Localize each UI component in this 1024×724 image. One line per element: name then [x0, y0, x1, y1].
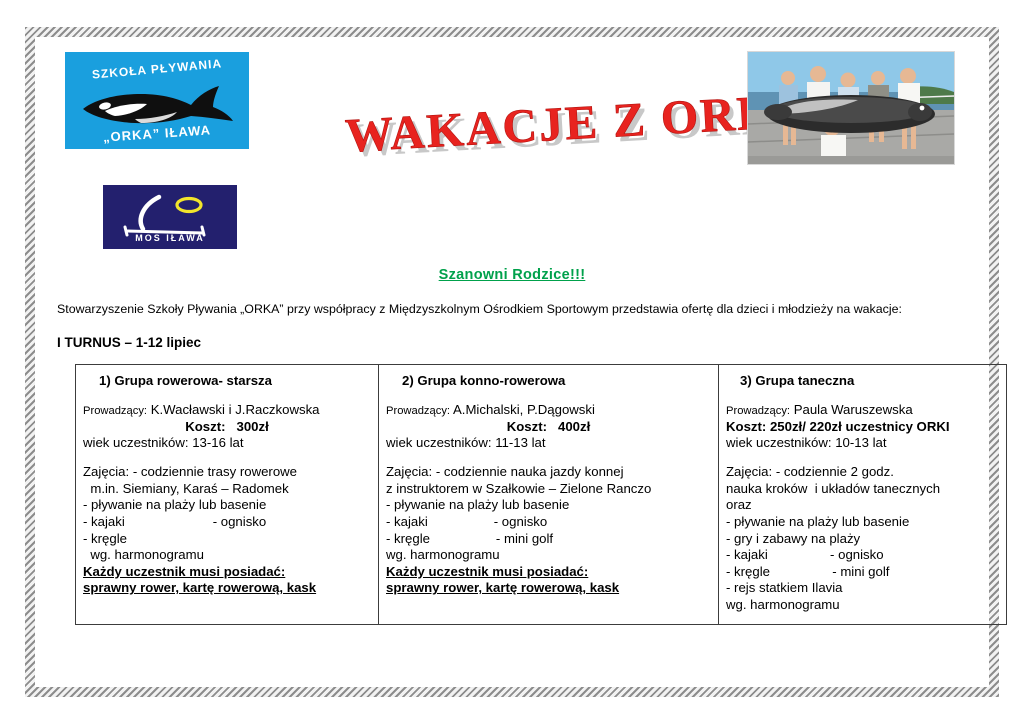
- spacer: [726, 452, 999, 464]
- group-cell-2: 2) Grupa konno-rowerowa Prowadzący: A.Mi…: [379, 365, 719, 625]
- group-leader: Prowadzący: A.Michalski, P.Dągowski: [386, 402, 711, 419]
- activity-line: - kajaki - ognisko: [386, 514, 711, 531]
- requirement-body: sprawny rower, kartę rowerową, kask: [386, 580, 711, 597]
- orka-swim-school-logo: SZKOŁA PŁYWANIA „ORKA” IŁAWA: [65, 52, 249, 149]
- decorative-page-border: SZKOŁA PŁYWANIA „ORKA” IŁAWA: [25, 27, 999, 697]
- leader-names: Paula Waruszewska: [790, 402, 913, 417]
- activity-line: - pływanie na plaży lub basenie: [83, 497, 371, 514]
- activity-line: - gry i zabawy na plaży: [726, 531, 999, 548]
- requirement-title: Każdy uczestnik musi posiadać:: [386, 564, 711, 581]
- activity-line: Zajęcia: - codziennie 2 godz.: [726, 464, 999, 481]
- session-heading: I TURNUS – 1-12 lipiec: [35, 335, 989, 350]
- activity-line: - kręgle - mini golf: [386, 531, 711, 548]
- group-age: wiek uczestników: 10-13 lat: [726, 435, 999, 452]
- group-cost: Koszt: 250zł/ 220zł uczestnicy ORKI: [726, 419, 999, 436]
- activity-line: oraz: [726, 497, 999, 514]
- group-cost: Koszt: 300zł: [83, 419, 371, 436]
- group-cell-3: 3) Grupa taneczna Prowadzący: Paula Waru…: [719, 365, 1007, 625]
- photo-illustration: [748, 52, 954, 164]
- activity-line: - kajaki - ognisko: [726, 547, 999, 564]
- group-heading: 2) Grupa konno-rowerowa: [386, 373, 711, 388]
- spacer: [83, 452, 371, 464]
- group-heading: 1) Grupa rowerowa- starsza: [83, 373, 371, 388]
- activity-line: z instruktorem w Szałkowie – Zielone Ran…: [386, 481, 711, 498]
- activity-line: wg. harmonogramu: [726, 597, 999, 614]
- spacer: [386, 452, 711, 464]
- document-header: SZKOŁA PŁYWANIA „ORKA” IŁAWA: [35, 37, 989, 267]
- intro-paragraph: Stowarzyszenie Szkoły Pływania „ORKA” pr…: [35, 301, 989, 317]
- requirement-body: sprawny rower, kartę rowerową, kask: [83, 580, 371, 597]
- activity-line: - rejs statkiem Ilavia: [726, 580, 999, 597]
- activity-line: - kręgle: [83, 531, 371, 548]
- group-leader: Prowadzący: Paula Waruszewska: [726, 402, 999, 419]
- page-content: SZKOŁA PŁYWANIA „ORKA” IŁAWA: [35, 37, 989, 687]
- activity-line: m.in. Siemiany, Karaś – Radomek: [83, 481, 371, 498]
- group-age: wiek uczestników: 13-16 lat: [83, 435, 371, 452]
- group-leader: Prowadzący: K.Wacławski i J.Raczkowska: [83, 402, 371, 419]
- table-row: 1) Grupa rowerowa- starsza Prowadzący: K…: [76, 365, 1007, 625]
- page-title: WAKACJE Z ORKĄ: [344, 85, 766, 163]
- group-photo: [747, 51, 955, 165]
- mos-ilawa-logo: MOS IŁAWA: [103, 185, 237, 249]
- activity-line: - kręgle - mini golf: [726, 564, 999, 581]
- requirement-title: Każdy uczestnik musi posiadać:: [83, 564, 371, 581]
- leader-label: Prowadzący:: [726, 405, 790, 417]
- activity-line: wg. harmonogramu: [386, 547, 711, 564]
- group-heading: 3) Grupa taneczna: [726, 373, 999, 388]
- leader-names: A.Michalski, P.Dągowski: [450, 402, 595, 417]
- leader-label: Prowadzący:: [83, 405, 147, 417]
- activity-line: - kajaki - ognisko: [83, 514, 371, 531]
- group-age: wiek uczestników: 11-13 lat: [386, 435, 711, 452]
- activity-line: - pływanie na plaży lub basenie: [386, 497, 711, 514]
- orka-logo-top-text: SZKOŁA PŁYWANIA: [65, 54, 249, 84]
- group-cost: Koszt: 400zł: [386, 419, 711, 436]
- activity-line: Zajęcia: - codziennie trasy rowerowe: [83, 464, 371, 481]
- group-cell-1: 1) Grupa rowerowa- starsza Prowadzący: K…: [76, 365, 379, 625]
- leader-label: Prowadzący:: [386, 405, 450, 417]
- activity-line: - pływanie na plaży lub basenie: [726, 514, 999, 531]
- activity-line: nauka kroków i układów tanecznych: [726, 481, 999, 498]
- activity-line: Zajęcia: - codziennie nauka jazdy konnej: [386, 464, 711, 481]
- mos-logo-caption: MOS IŁAWA: [103, 233, 237, 243]
- activity-line: wg. harmonogramu: [83, 547, 371, 564]
- offer-table: 1) Grupa rowerowa- starsza Prowadzący: K…: [75, 364, 1007, 625]
- orca-whale-icon: [79, 83, 235, 127]
- leader-names: K.Wacławski i J.Raczkowska: [147, 402, 319, 417]
- greeting-heading: Szanowni Rodzice!!!: [35, 267, 989, 283]
